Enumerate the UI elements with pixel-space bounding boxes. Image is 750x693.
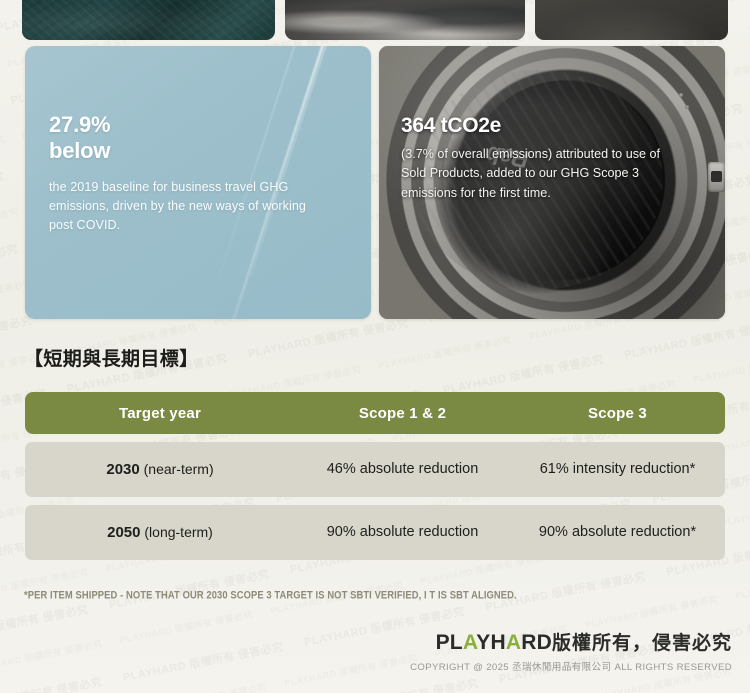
table-row: 2050 (long-term) 90% absolute reduction …: [25, 505, 725, 560]
cell-target-year: 2030 (near-term): [25, 461, 295, 478]
target-year-qualifier: (near-term): [144, 461, 214, 477]
brand-text-pl: PL: [436, 631, 463, 654]
brand-text-yh: YH: [476, 631, 506, 654]
sold-stat-value: 364 tCO2e: [401, 114, 681, 138]
section-heading: 【短期與長期目標】: [24, 344, 199, 371]
column-header-scope-1-2: Scope 1 & 2: [295, 405, 510, 422]
target-year-number: 2050: [107, 524, 140, 541]
column-header-target-year: Target year: [25, 405, 295, 422]
cell-target-year: 2050 (long-term): [25, 524, 295, 541]
cell-scope-3: 61% intensity reduction*: [510, 460, 725, 479]
drum-latch-icon: [708, 162, 725, 192]
target-year-qualifier: (long-term): [144, 524, 212, 540]
copyright-line: COPYRIGHT @ 2025 丞瑞休閒用品有限公司 ALL RIGHTS R…: [410, 659, 732, 673]
top-photo-card-2: [285, 0, 525, 40]
brand-text-rd: RD: [521, 631, 552, 654]
stat-card-row: 27.9% below the 2019 baseline for busine…: [25, 46, 725, 319]
top-photo-card-3: [535, 0, 728, 40]
sold-stat-description: (3.7% of overall emissions) attributed t…: [401, 145, 681, 203]
brand-text-a1: A: [463, 631, 476, 654]
travel-stat-qualifier: below: [49, 138, 311, 164]
drum-bolt-icon: [679, 93, 683, 97]
table-header-row: Target year Scope 1 & 2 Scope 3: [25, 392, 725, 434]
travel-stat-number: 27.9%: [49, 112, 311, 138]
infographic-page: PLAYHARD 版權所有 侵害必究 PLAYHARD 版權所有 侵害必究 PL…: [0, 0, 750, 693]
brand-logo: PLAYHARD版權所有，侵害必究: [410, 628, 732, 655]
sold-products-stat-card: Rab 364 tCO2e (3.7% of overall emissions…: [379, 46, 725, 319]
table-row: 2030 (near-term) 46% absolute reduction …: [25, 442, 725, 497]
target-year-number: 2030: [106, 461, 139, 478]
drum-bolt-icon: [685, 105, 689, 109]
footer-brand-block: PLAYHARD版權所有，侵害必究 COPYRIGHT @ 2025 丞瑞休閒用…: [410, 628, 732, 673]
travel-stat-value: 27.9% below: [49, 112, 311, 163]
business-travel-stat-card: 27.9% below the 2019 baseline for busine…: [25, 46, 371, 319]
cell-scope-1-2: 46% absolute reduction: [295, 460, 510, 479]
top-photo-strip: [0, 0, 750, 40]
cell-scope-3: 90% absolute reduction*: [510, 523, 725, 542]
table-footnote: *PER ITEM SHIPPED - NOTE THAT OUR 2030 S…: [24, 588, 517, 601]
travel-stat-description: the 2019 baseline for business travel GH…: [49, 178, 311, 235]
top-photo-card-1: [22, 0, 275, 40]
brand-text-chinese: 版權所有，侵害必究: [552, 633, 732, 654]
column-header-scope-3: Scope 3: [510, 405, 725, 422]
cell-scope-1-2: 90% absolute reduction: [295, 523, 510, 542]
brand-text-a2: A: [506, 631, 521, 654]
targets-table: Target year Scope 1 & 2 Scope 3 2030 (ne…: [25, 392, 725, 560]
